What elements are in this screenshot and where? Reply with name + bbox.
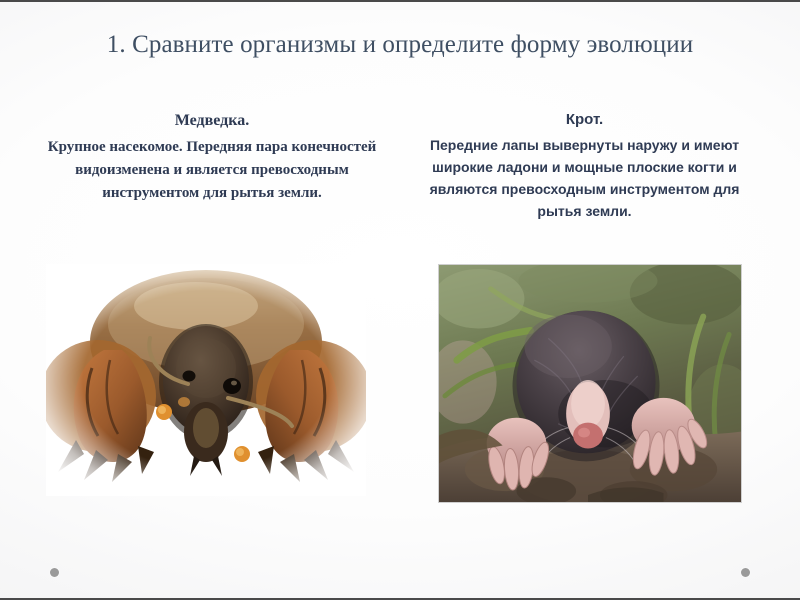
- photo-mole-cricket: [46, 264, 366, 496]
- photo-mole: [438, 264, 742, 503]
- column-heading-mole-cricket: Медведка.: [42, 109, 382, 133]
- decorative-dot-left: [50, 568, 59, 577]
- slide-canvas: 1. Сравните организмы и определите форму…: [0, 0, 800, 600]
- column-heading-mole: Крот.: [412, 109, 757, 131]
- column-body-mole: Передние лапы вывернуты наружу и имеют ш…: [412, 134, 757, 222]
- content-column-mole-cricket: Медведка. Крупное насекомое. Передняя па…: [42, 109, 382, 205]
- page-title: 1. Сравните организмы и определите форму…: [0, 30, 800, 60]
- content-column-mole: Крот. Передние лапы вывернуты наружу и и…: [412, 109, 757, 222]
- column-body-mole-cricket: Крупное насекомое. Передняя пара конечно…: [42, 136, 382, 205]
- decorative-dot-right: [741, 568, 750, 577]
